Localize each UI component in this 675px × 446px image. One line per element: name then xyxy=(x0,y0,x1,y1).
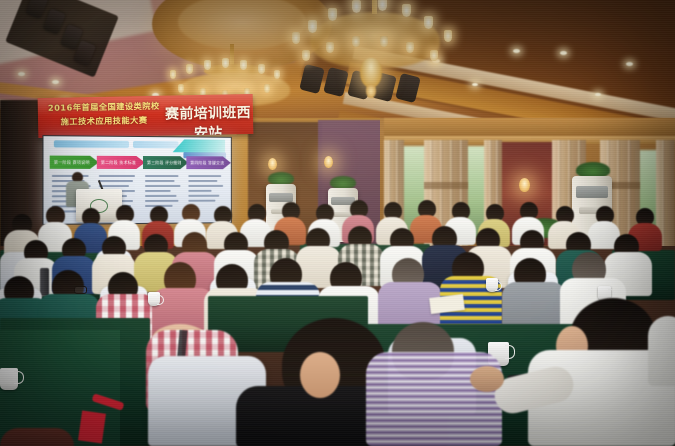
coffee-cup xyxy=(486,278,498,292)
downlight-icon xyxy=(52,80,59,84)
wall-sconce-icon xyxy=(519,178,530,192)
banner-subtitle: 2016年首届全国建设类院校 施工技术应用技能大赛 xyxy=(44,99,165,129)
projection-screen: 第一阶段 赛项说明 第二阶段 技术标准 第三阶段 评分细则 第四阶段 答疑交流 xyxy=(42,135,231,225)
banner-headline: 赛前培训班西安站 xyxy=(164,103,253,138)
coffee-cup xyxy=(148,292,160,306)
badge-card xyxy=(78,410,106,443)
banner-line-2: 施工技术应用技能大赛 xyxy=(44,113,164,129)
thermos xyxy=(40,268,49,296)
downlight-icon xyxy=(560,51,567,55)
downlight-icon xyxy=(595,93,601,96)
conference-hall-photo: 2016年首届全国建设类院校 施工技术应用技能大赛 赛前培训班西安站 第一阶段 … xyxy=(0,0,675,446)
wall-sconce-icon xyxy=(324,156,333,168)
slide-arrow-3: 第三阶段 评分细则 xyxy=(143,156,188,169)
attendee-torso xyxy=(0,428,74,446)
downlight-icon xyxy=(18,72,25,76)
downlight-icon xyxy=(626,62,633,66)
slide-arrow-4: 第四阶段 答疑交流 xyxy=(186,156,231,169)
eyeglasses-icon xyxy=(74,286,87,294)
slide-header xyxy=(48,138,227,150)
coffee-cup xyxy=(0,368,18,390)
attendee-torso xyxy=(648,316,675,386)
chandelier-right xyxy=(286,0,466,106)
downlight-icon xyxy=(513,49,520,53)
attendee-hand xyxy=(470,366,504,392)
downlight-icon xyxy=(472,83,478,86)
attendee-ear xyxy=(300,352,340,398)
curtain-tieback xyxy=(424,182,468,189)
slide-arrow-1: 第一阶段 赛项说明 xyxy=(50,156,99,169)
event-banner: 2016年首届全国建设类院校 施工技术应用技能大赛 赛前培训班西安站 xyxy=(38,94,254,138)
slide-arrow-2: 第二阶段 技术标准 xyxy=(97,156,145,169)
wall-sconce-icon xyxy=(268,158,277,170)
